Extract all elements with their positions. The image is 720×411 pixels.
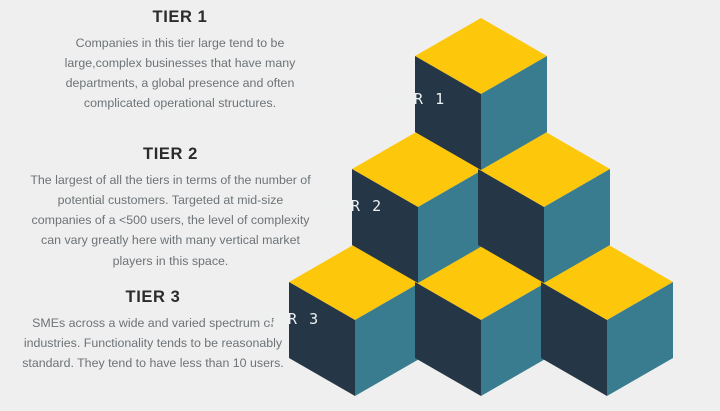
- cube-label-tier-2: TIER 2: [319, 197, 383, 215]
- cube-label-tier-1: TIER 1: [382, 90, 446, 108]
- infographic-canvas: TIER 1 Companies in this tier large tend…: [0, 0, 720, 411]
- cube-label-tier-3: TIER 3: [256, 310, 320, 328]
- isometric-pyramid-diagram: TIER 1 TIER 2 TIER 3: [0, 0, 720, 411]
